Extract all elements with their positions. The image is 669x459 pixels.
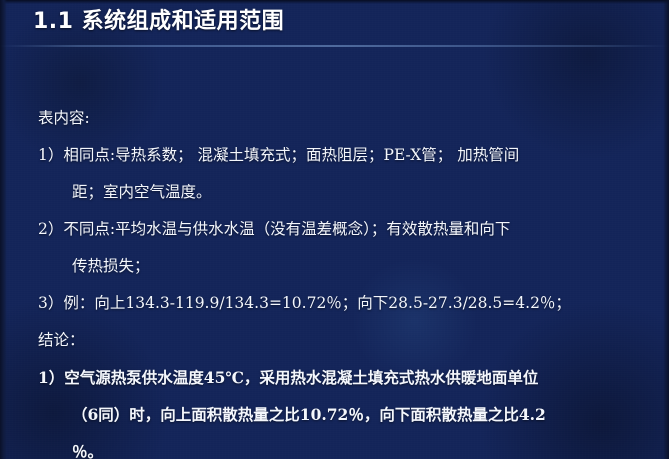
list-item-2-line-1: 2）不同点:平均水温与供水水温（没有温差概念）；有效散热量和向下	[0, 211, 669, 248]
slide-body: 表内容: 1）相同点:导热系数； 混凝土填充式；面热阻层；PE-X管； 加热管间…	[0, 100, 669, 459]
list-item-3-line-1: 3）例：向上134.3-119.9/134.3=10.72％；向下28.5-27…	[0, 285, 669, 322]
page-title: 1.1 系统组成和适用范围	[33, 7, 284, 37]
list-item-1-line-2: 距；室内空气温度。	[0, 174, 669, 211]
slide-title-block: 1.1 系统组成和适用范围	[0, 0, 669, 46]
table-content-heading: 表内容:	[0, 100, 669, 137]
slide-canvas: 1.1 系统组成和适用范围 表内容: 1）相同点:导热系数； 混凝土填充式；面热…	[0, 0, 669, 459]
conclusion-heading: 结论：	[0, 322, 669, 359]
list-item-1-line-1: 1）相同点:导热系数； 混凝土填充式；面热阻层；PE-X管； 加热管间	[0, 137, 669, 174]
conclusion-1-line-3: ％。	[0, 433, 669, 459]
conclusion-1-line-1: 1）空气源热泵供水温度45℃，采用热水混凝土填充式热水供暖地面单位	[0, 359, 669, 396]
conclusion-1-line-2: （6同）时，向上面积散热量之比10.72％，向下面积散热量之比4.2	[0, 396, 669, 433]
list-item-2-line-2: 传热损失；	[0, 248, 669, 285]
title-divider	[0, 45, 669, 47]
